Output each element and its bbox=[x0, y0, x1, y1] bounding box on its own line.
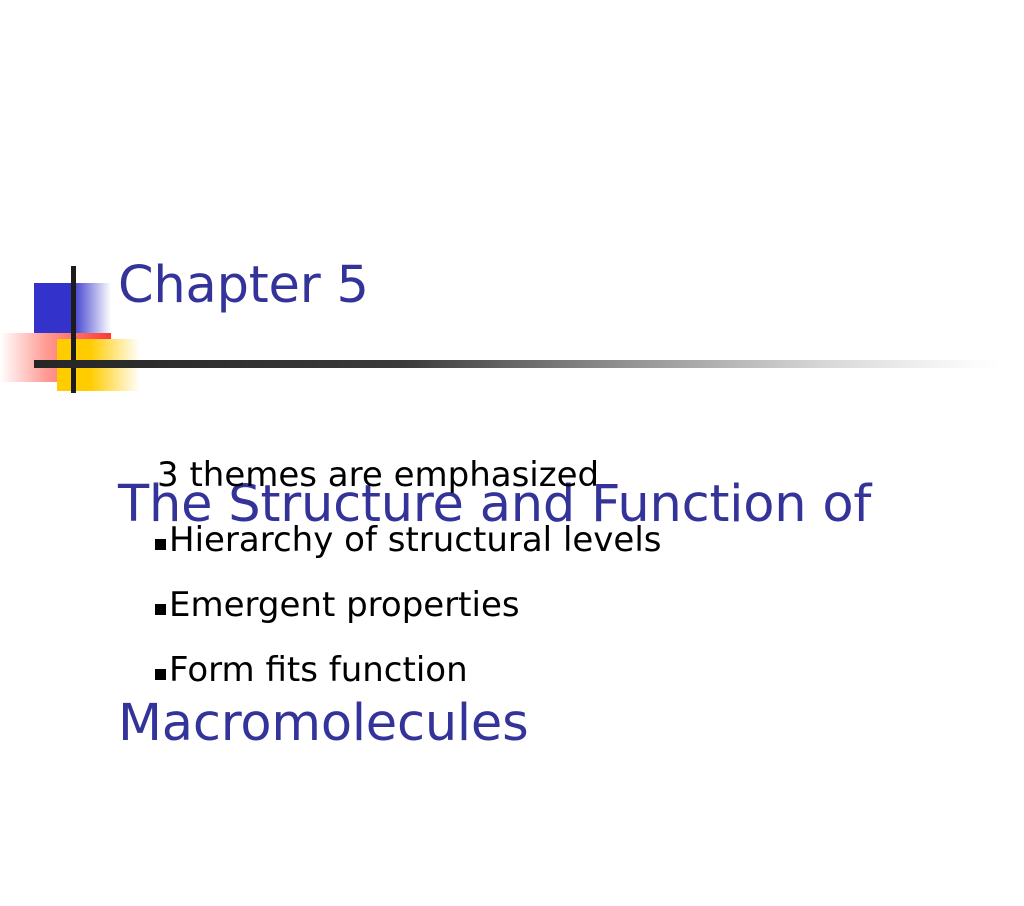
slide-canvas: Chapter 5 The Structure and Function of … bbox=[0, 0, 1024, 768]
list-item-label: 3 themes are emphasized bbox=[155, 443, 599, 508]
list-item: Emergent properties bbox=[155, 573, 975, 638]
list-item: Hierarchy of structural levels bbox=[155, 508, 975, 573]
decoration-vertical-rule bbox=[71, 266, 76, 393]
slide-body-list: 3 themes are emphasized Hierarchy of str… bbox=[155, 443, 975, 703]
decoration-blue-block bbox=[34, 283, 111, 339]
decoration-red-block bbox=[0, 333, 111, 382]
bullet-square-icon bbox=[155, 539, 166, 550]
list-item-label: Hierarchy of structural levels bbox=[169, 508, 662, 573]
bullet-square-icon bbox=[155, 604, 166, 615]
list-item-label: Form fits function bbox=[169, 638, 468, 703]
title-line-1: Chapter 5 bbox=[118, 249, 988, 322]
list-item: 3 themes are emphasized bbox=[155, 443, 975, 508]
bullet-square-icon bbox=[155, 669, 166, 680]
list-item: Form fits function bbox=[155, 638, 975, 703]
list-item-label: Emergent properties bbox=[169, 573, 520, 638]
